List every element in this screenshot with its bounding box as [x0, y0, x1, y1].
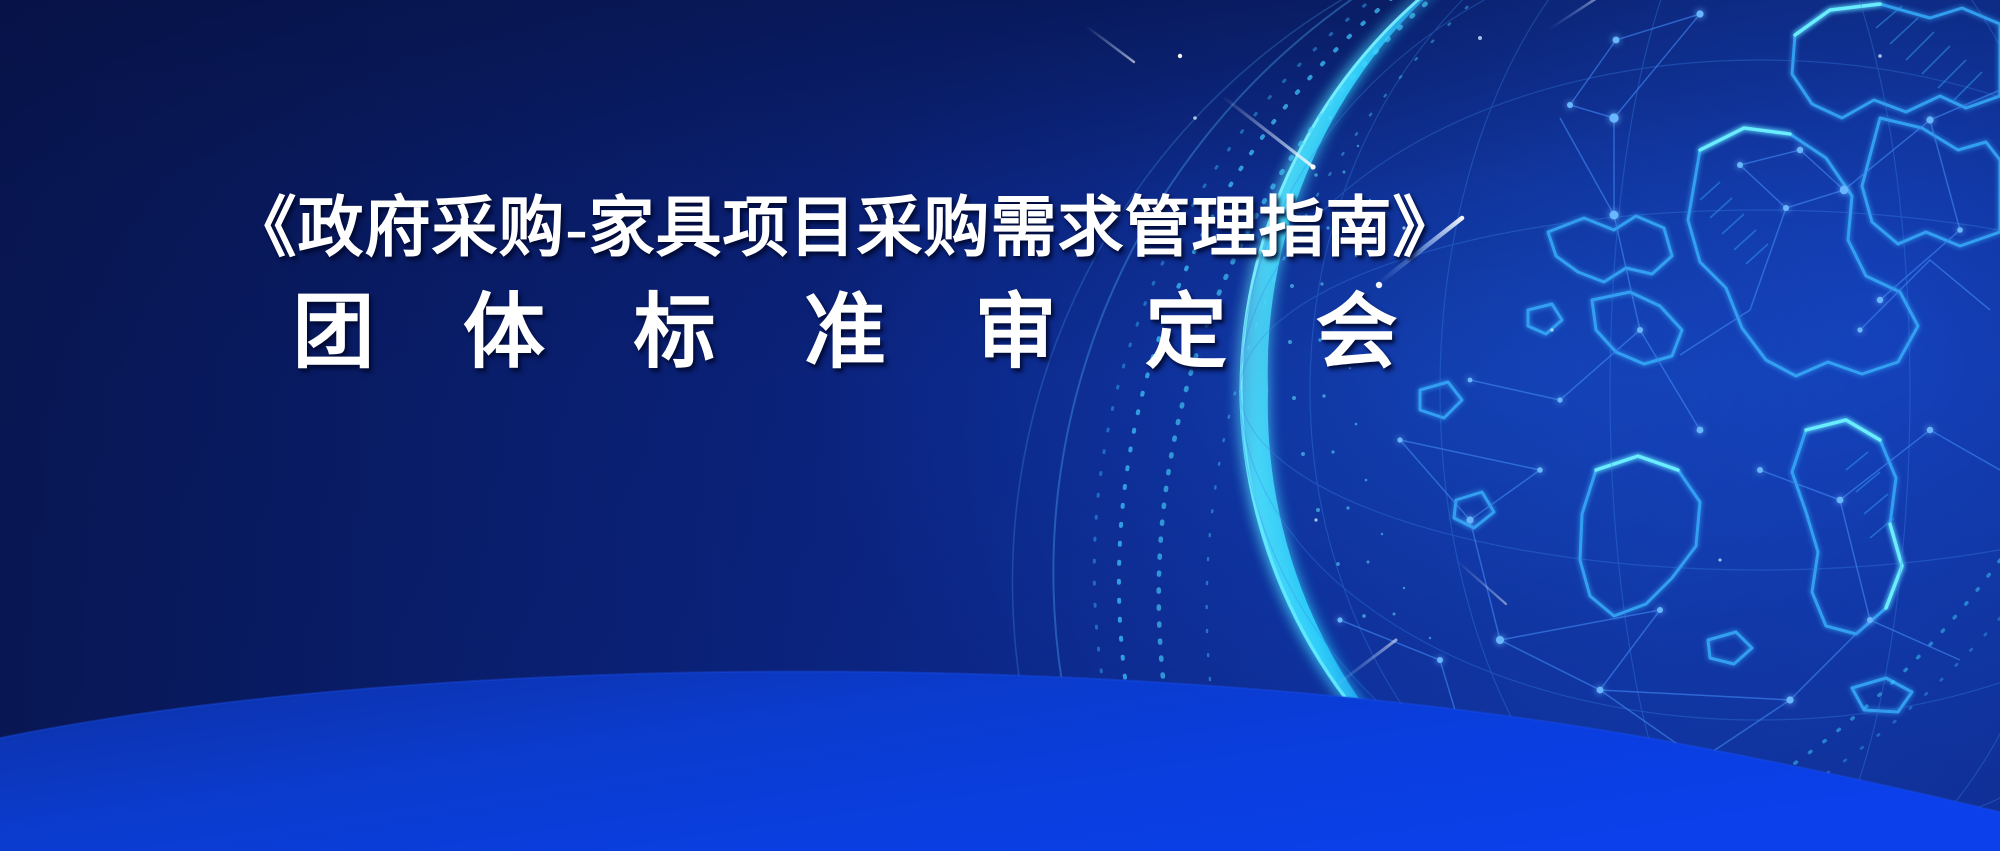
conference-banner: 《政府采购-家具项目采购需求管理指南》 团 体 标 准 审 定 会 — [0, 0, 2000, 851]
background-gradient — [0, 0, 2000, 851]
